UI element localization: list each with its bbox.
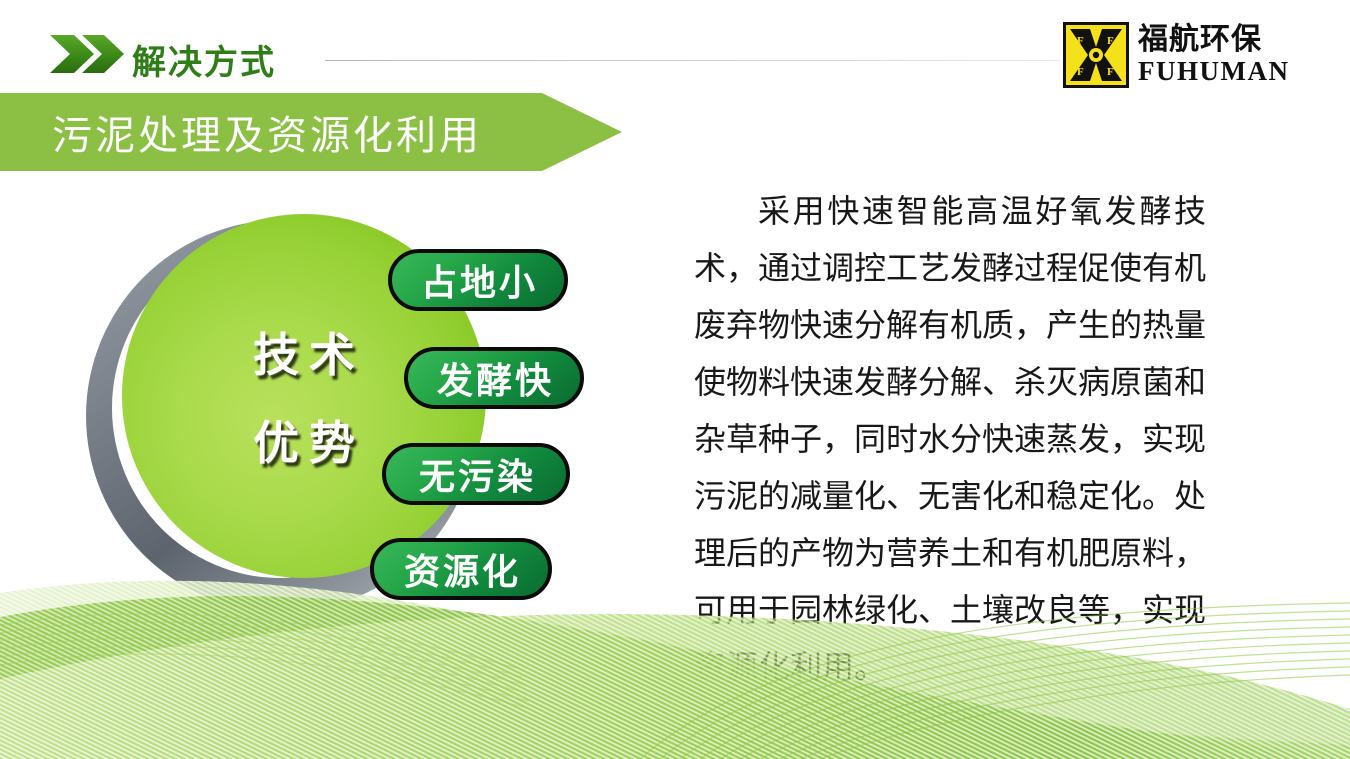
fuhuman-logo-mark-icon: F F F F	[1063, 22, 1129, 88]
advantage-badge-2[interactable]: 发酵快	[404, 347, 584, 409]
page-title: 解决方式	[132, 35, 276, 84]
svg-text:F: F	[1077, 66, 1084, 78]
advantage-badge-3-label: 无污染	[416, 448, 536, 500]
slide-canvas: 解决方式 F F F F 福航环保 FUHUMAN	[0, 0, 1350, 759]
advantage-badge-1[interactable]: 占地小	[388, 249, 568, 311]
double-chevron-right-icon	[48, 33, 128, 75]
svg-text:F: F	[1107, 35, 1114, 47]
section-banner-title: 污泥处理及资源化利用	[52, 103, 482, 161]
center-label-line-2: 优势	[243, 407, 365, 473]
brand-logo: F F F F 福航环保 FUHUMAN	[1063, 22, 1289, 88]
advantage-badge-3[interactable]: 无污染	[382, 443, 570, 505]
advantage-badge-1-label: 占地小	[418, 254, 538, 306]
green-wave-ribbons-icon	[0, 559, 1350, 759]
header-divider	[325, 60, 1060, 61]
advantage-badge-2-label: 发酵快	[434, 352, 554, 404]
svg-text:F: F	[1077, 35, 1084, 47]
section-banner: 污泥处理及资源化利用	[0, 93, 622, 171]
center-label-line-1: 技术	[243, 319, 365, 385]
svg-text:F: F	[1107, 66, 1114, 78]
logo-name-cn: 福航环保	[1138, 25, 1289, 55]
logo-name-en: FUHUMAN	[1138, 58, 1289, 85]
